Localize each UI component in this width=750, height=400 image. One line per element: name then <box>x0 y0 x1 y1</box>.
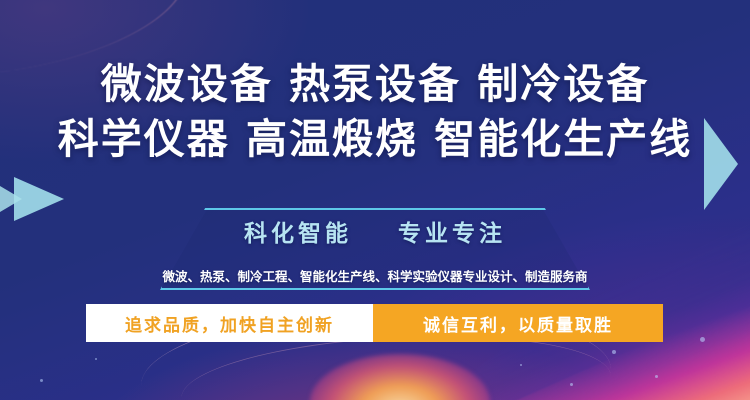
headline-line-1: 微波设备 热泵设备 制冷设备 <box>0 62 750 108</box>
sparkle-dot <box>520 364 522 366</box>
light-streak-decoration <box>0 0 164 55</box>
sparkle-dot <box>95 358 97 360</box>
feature-box: 科化智能 专业专注 微波、热泵、制冷工程、智能化生产线、科学实验仪器专业设计、制… <box>160 208 590 290</box>
feature-title-right: 专业专注 <box>398 221 506 247</box>
sparkle-dot <box>570 383 573 386</box>
headline-line-2: 科学仪器 高温煅烧 智能化生产线 <box>0 117 750 163</box>
feature-box-subtitle: 微波、热泵、制冷工程、智能化生产线、科学实验仪器专业设计、制造服务商 <box>160 266 590 285</box>
glow-orb-decoration <box>310 354 490 400</box>
cta-button-integrity[interactable]: 诚信互利，以质量取胜 <box>373 304 663 342</box>
feature-box-title: 科化智能 专业专注 <box>160 214 590 248</box>
light-streak-decoration <box>0 0 161 46</box>
feature-title-left: 科化智能 <box>244 221 352 247</box>
sparkle-dot <box>655 375 658 378</box>
cta-button-row: 追求品质，加快自主创新 诚信互利，以质量取胜 <box>86 304 663 342</box>
triangle-right-icon <box>0 186 22 212</box>
banner-headline: 微波设备 热泵设备 制冷设备 科学仪器 高温煅烧 智能化生产线 <box>0 62 750 163</box>
promo-banner: 微波设备 热泵设备 制冷设备 科学仪器 高温煅烧 智能化生产线 科化智能 专业专… <box>0 0 750 400</box>
sparkle-dot <box>40 379 43 382</box>
sparkle-dot <box>612 350 616 354</box>
cta-button-quality[interactable]: 追求品质，加快自主创新 <box>86 304 373 342</box>
sparkle-dot <box>700 337 705 342</box>
